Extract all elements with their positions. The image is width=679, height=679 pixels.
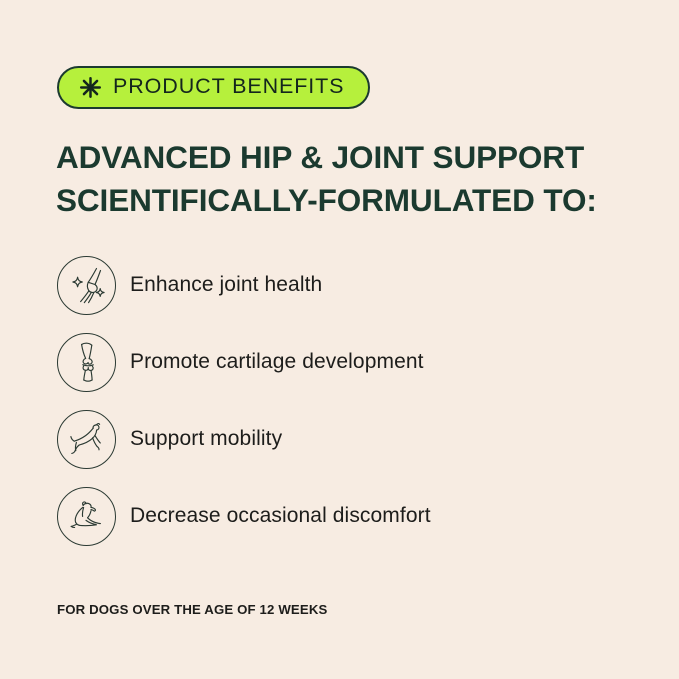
headline-line-2: SCIENTIFICALLY-FORMULATED TO: <box>56 179 597 222</box>
sparkling-knee-joint-icon <box>57 256 116 315</box>
bone-cartilage-joint-icon <box>57 333 116 392</box>
benefit-label: Enhance joint health <box>130 272 322 297</box>
leaping-dog-icon <box>57 410 116 469</box>
product-benefits-badge: PRODUCT BENEFITS <box>57 66 370 109</box>
benefit-label: Promote cartilage development <box>130 349 424 374</box>
resting-dog-icon <box>57 487 116 546</box>
asterisk-icon <box>79 76 102 99</box>
age-requirement-note: FOR DOGS OVER THE AGE OF 12 WEEKS <box>57 602 327 617</box>
benefit-label: Decrease occasional discomfort <box>130 503 431 528</box>
benefit-item-promote-cartilage-development: Promote cartilage development <box>57 332 617 392</box>
benefit-item-enhance-joint-health: Enhance joint health <box>57 255 617 315</box>
page-title: ADVANCED HIP & JOINT SUPPORT SCIENTIFICA… <box>56 136 597 222</box>
benefits-list: Enhance joint health <box>57 255 617 546</box>
benefit-item-support-mobility: Support mobility <box>57 409 617 469</box>
badge-container: PRODUCT BENEFITS <box>57 66 370 109</box>
benefit-label: Support mobility <box>130 426 282 451</box>
product-benefits-panel: PRODUCT BENEFITS ADVANCED HIP & JOINT SU… <box>0 0 679 679</box>
headline-line-1: ADVANCED HIP & JOINT SUPPORT <box>56 136 597 179</box>
benefit-item-decrease-occasional-discomfort: Decrease occasional discomfort <box>57 486 617 546</box>
badge-label: PRODUCT BENEFITS <box>113 76 344 98</box>
